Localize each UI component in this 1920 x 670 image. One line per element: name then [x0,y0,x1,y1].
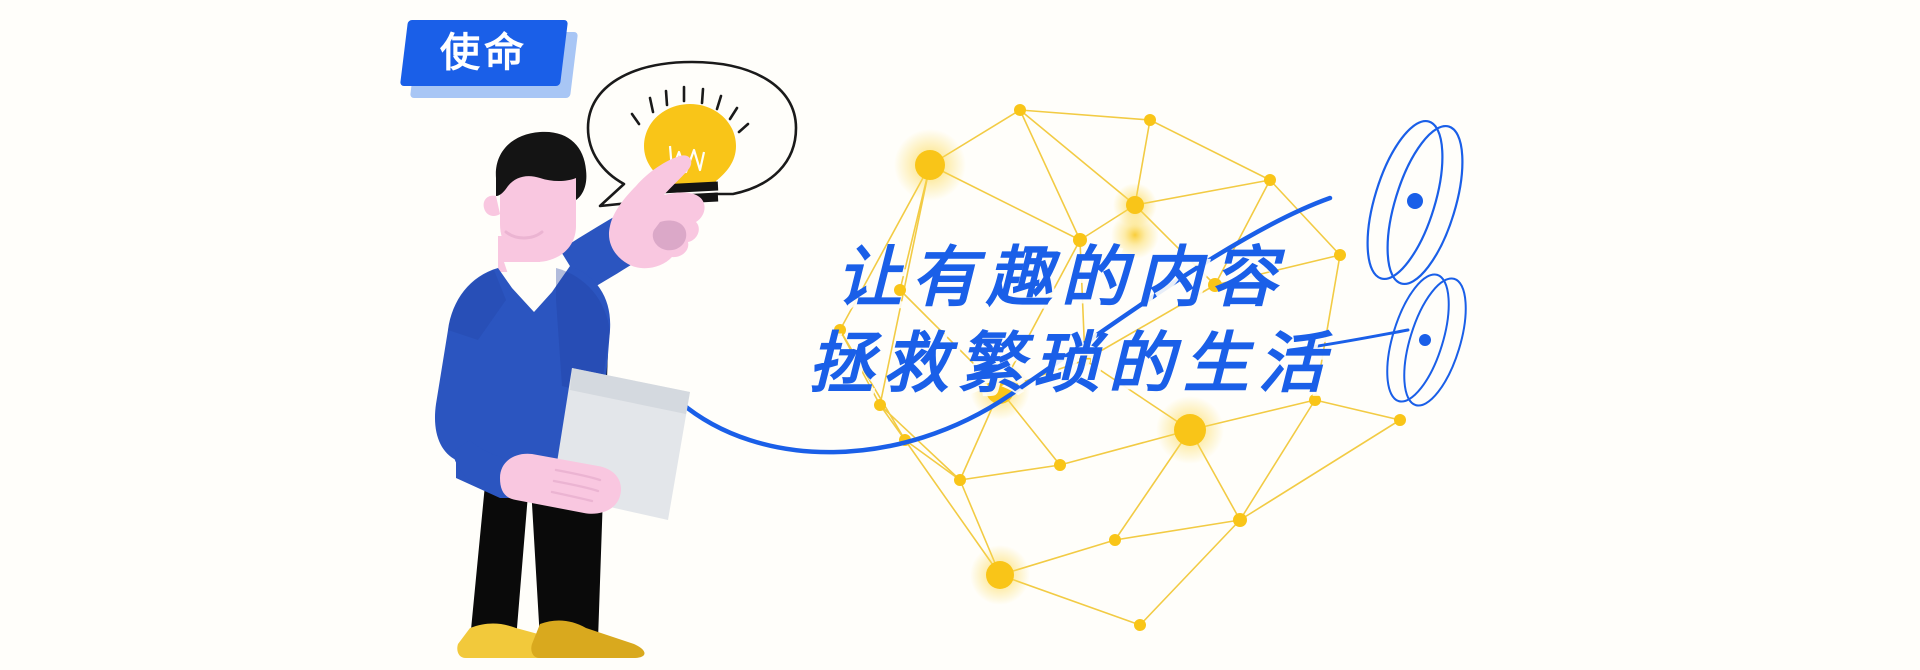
character-shoes [457,621,644,658]
mission-badge[interactable]: 使命 [390,10,590,110]
idea-speech-bubble [588,62,796,206]
mission-banner: 让有趣的内容 拯救繁琐的生活 [0,0,1920,670]
illustration-man-pointing [0,0,1920,670]
badge-label: 使命 [440,33,528,73]
badge-main[interactable]: 使命 [400,20,568,86]
